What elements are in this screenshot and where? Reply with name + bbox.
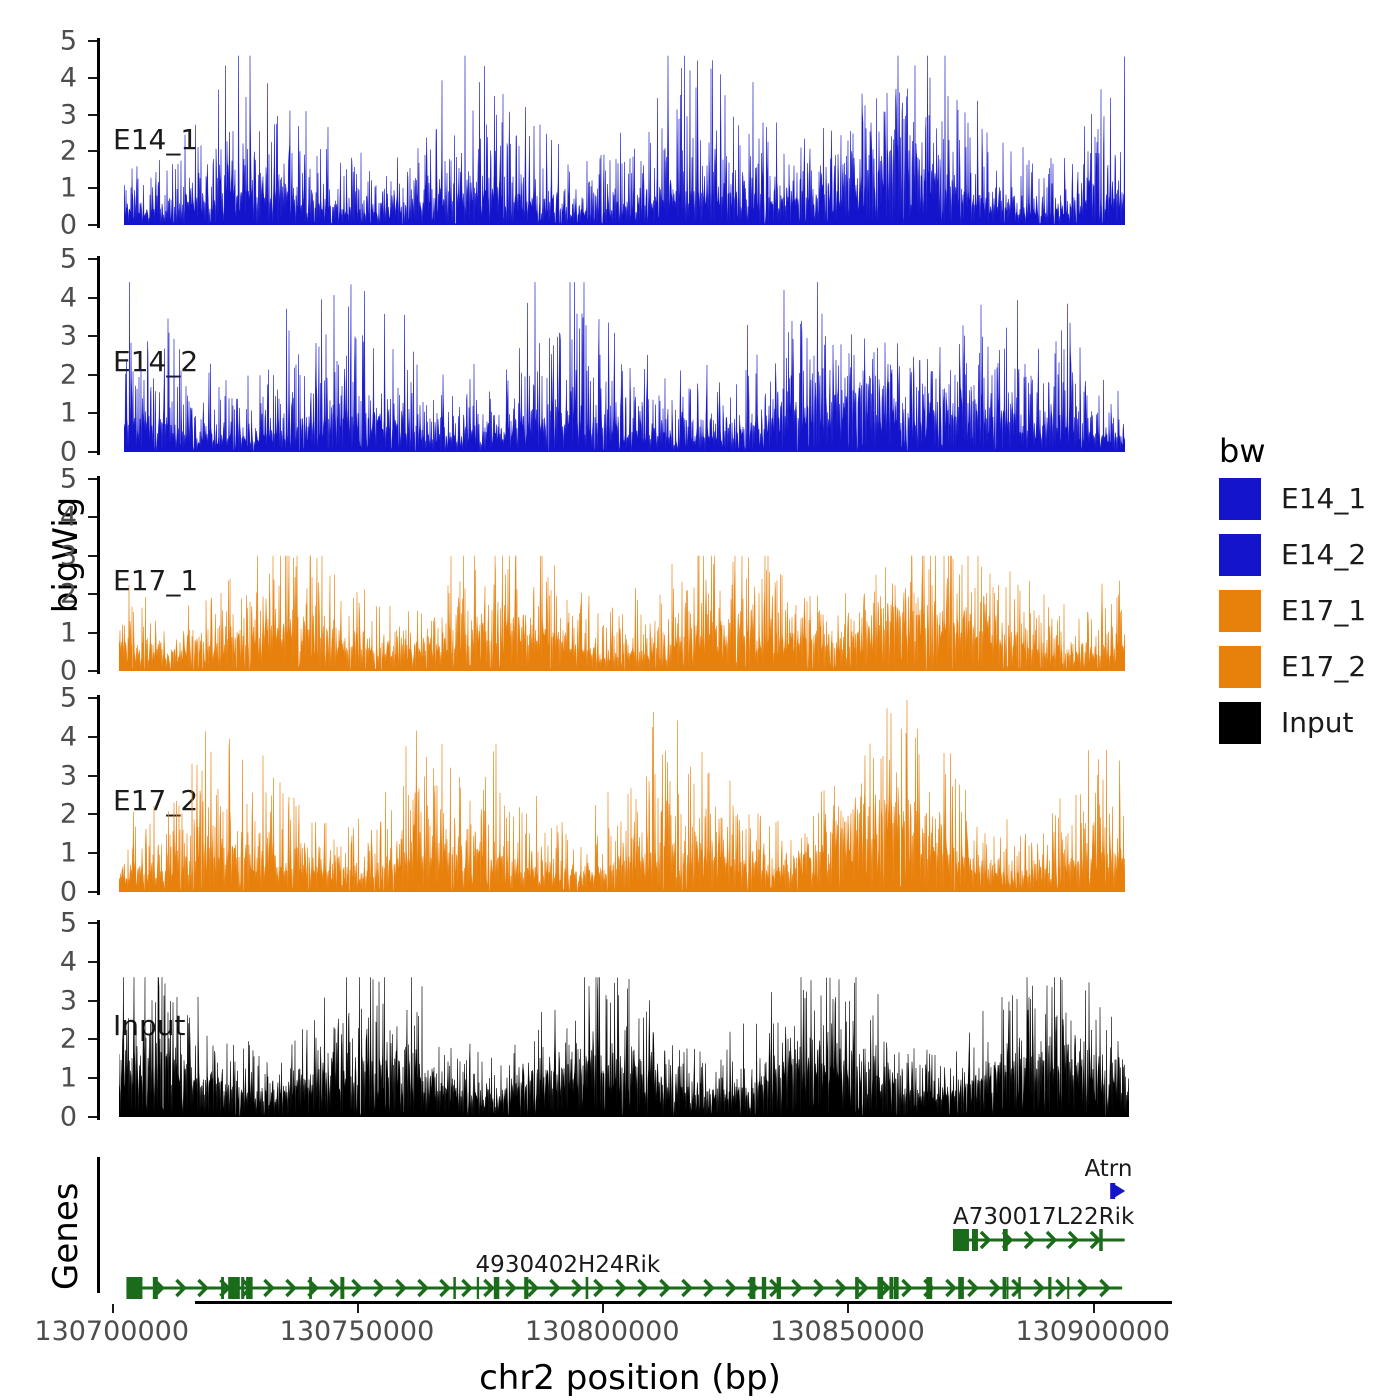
y-tickmark — [88, 412, 97, 414]
y-tickmark — [88, 1077, 97, 1079]
y-tickmark — [88, 736, 97, 738]
x-tickmark — [847, 1304, 849, 1313]
legend-label: E14_1 — [1281, 485, 1366, 513]
gene-label-4930402h24rik: 4930402H24Rik — [476, 1254, 661, 1277]
signal-track-e17_2 — [119, 698, 1125, 892]
legend-label: Input — [1281, 709, 1354, 737]
y-tickmark — [88, 555, 97, 557]
y-tick-label: 1 — [43, 619, 77, 646]
legend-item-e14_1[interactable]: E14_1 — [1219, 478, 1366, 520]
y-tickmark — [88, 593, 97, 595]
y-tick-label: 5 — [43, 685, 77, 712]
y-axis-spine — [97, 476, 100, 674]
y-tickmark — [88, 697, 97, 699]
y-tickmark — [88, 40, 97, 42]
track-label-input: Input — [113, 1012, 186, 1040]
y-tickmark — [88, 374, 97, 376]
gene-model[interactable] — [953, 1229, 1125, 1251]
y-tick-label: 1 — [43, 175, 77, 202]
x-tickmark — [112, 1304, 114, 1313]
legend-swatch — [1219, 478, 1261, 520]
y-tick-label: 3 — [43, 987, 77, 1014]
bigwig-panel-e14_2: 012345E14_2 — [0, 0, 1400, 1400]
y-tick-label: 4 — [43, 64, 77, 91]
y-tick-label: 2 — [43, 1026, 77, 1053]
y-tick-label: 4 — [43, 284, 77, 311]
gene-model[interactable] — [126, 1277, 1122, 1299]
y-tick-label: 5 — [43, 246, 77, 273]
y-tickmark — [88, 451, 97, 453]
y-tick-label: 1 — [43, 400, 77, 427]
bigwig-panel-input: 012345Input — [0, 0, 1400, 1400]
bigwig-panel-e17_2: 012345E17_2 — [0, 0, 1400, 1400]
x-tickmark — [1093, 1304, 1095, 1313]
x-tickmark — [357, 1304, 359, 1313]
y-axis-spine — [97, 256, 100, 455]
gene-label-a730017l22rik: A730017L22Rik — [953, 1206, 1134, 1229]
y-tick-label: 5 — [43, 910, 77, 937]
y-tick-label: 4 — [43, 948, 77, 975]
y-tick-label: 1 — [43, 1065, 77, 1092]
y-tickmark — [88, 516, 97, 518]
legend: bwE14_1E14_2E17_1E17_2Input — [0, 0, 1400, 1400]
y-axis-spine — [97, 38, 100, 228]
y-tick-label: 5 — [43, 28, 77, 55]
x-tick-label: 130700000 — [34, 1318, 189, 1345]
y-tickmark — [88, 961, 97, 963]
y-tickmark — [88, 852, 97, 854]
y-tickmark — [88, 187, 97, 189]
y-tickmark — [88, 478, 97, 480]
y-tick-label: 0 — [43, 439, 77, 466]
y-tickmark — [88, 297, 97, 299]
signal-track-input — [119, 923, 1129, 1117]
x-axis-line — [195, 1301, 1172, 1304]
y-tickmark — [88, 813, 97, 815]
signal-track-e14_1 — [124, 41, 1125, 225]
y-tickmark — [88, 114, 97, 116]
bigwig-panel-e14_1: 012345E14_1 — [0, 0, 1400, 1400]
y-tickmark — [88, 632, 97, 634]
signal-track-e17_1 — [119, 479, 1125, 671]
legend-item-input[interactable]: Input — [1219, 702, 1354, 744]
legend-swatch — [1219, 534, 1261, 576]
legend-label: E17_1 — [1281, 597, 1366, 625]
x-tick-label: 130750000 — [280, 1318, 435, 1345]
x-tickmark — [602, 1304, 604, 1313]
track-label-e14_1: E14_1 — [113, 126, 198, 154]
y-axis-spine — [97, 920, 100, 1120]
gene-label-atrn: Atrn — [1084, 1158, 1132, 1181]
track-label-e17_1: E17_1 — [113, 567, 198, 595]
legend-label: E14_2 — [1281, 541, 1366, 569]
y-tick-label: 0 — [43, 212, 77, 239]
gene-model[interactable] — [1110, 1183, 1125, 1199]
y-tickmark — [88, 922, 97, 924]
y-tick-label: 5 — [43, 466, 77, 493]
gene-models — [0, 0, 1400, 1400]
y-tickmark — [88, 1116, 97, 1118]
y-tick-label: 0 — [43, 879, 77, 906]
legend-label: E17_2 — [1281, 653, 1366, 681]
y-tick-label: 3 — [43, 323, 77, 350]
legend-swatch — [1219, 646, 1261, 688]
y-tickmark — [88, 775, 97, 777]
track-label-e17_2: E17_2 — [113, 787, 198, 815]
x-tick-label: 130850000 — [770, 1318, 925, 1345]
signal-track-e14_2 — [124, 259, 1125, 452]
legend-swatch — [1219, 590, 1261, 632]
legend-swatch — [1219, 702, 1261, 744]
y-tickmark — [88, 224, 97, 226]
y-tick-label: 0 — [43, 1104, 77, 1131]
gene-panel-spine — [97, 1157, 100, 1293]
x-tick-label: 130900000 — [1015, 1318, 1170, 1345]
x-tick-label: 130800000 — [525, 1318, 680, 1345]
y-tickmark — [88, 1038, 97, 1040]
bigwig-panel-e17_1: 012345E17_1 — [0, 0, 1400, 1400]
y-tick-label: 0 — [43, 658, 77, 685]
legend-item-e14_2[interactable]: E14_2 — [1219, 534, 1366, 576]
y-tickmark — [88, 150, 97, 152]
legend-item-e17_2[interactable]: E17_2 — [1219, 646, 1366, 688]
y-tickmark — [88, 670, 97, 672]
legend-title: bw — [1219, 435, 1265, 467]
y-tick-label: 2 — [43, 361, 77, 388]
y-tick-label: 1 — [43, 840, 77, 867]
y-tick-label: 3 — [43, 762, 77, 789]
y-tickmark — [88, 335, 97, 337]
y-tickmark — [88, 891, 97, 893]
y-tickmark — [88, 77, 97, 79]
y-axis-title: bigWig — [46, 497, 86, 614]
track-label-e14_2: E14_2 — [113, 348, 198, 376]
y-tick-label: 3 — [43, 101, 77, 128]
gene-panel: AtrnA730017L22Rik4930402H24Rik1307000001… — [0, 0, 1400, 1400]
legend-item-e17_1[interactable]: E17_1 — [1219, 590, 1366, 632]
figure-root: bigWigGenes012345E14_1012345E14_2012345E… — [0, 0, 1400, 1400]
y-tick-label: 2 — [43, 801, 77, 828]
x-axis-title: chr2 position (bp) — [0, 1358, 1330, 1398]
y-axis-spine — [97, 695, 100, 895]
y-tick-label: 2 — [43, 138, 77, 165]
gene-panel-title: Genes — [46, 1183, 86, 1290]
y-tick-label: 4 — [43, 723, 77, 750]
y-tickmark — [88, 1000, 97, 1002]
y-tickmark — [88, 258, 97, 260]
